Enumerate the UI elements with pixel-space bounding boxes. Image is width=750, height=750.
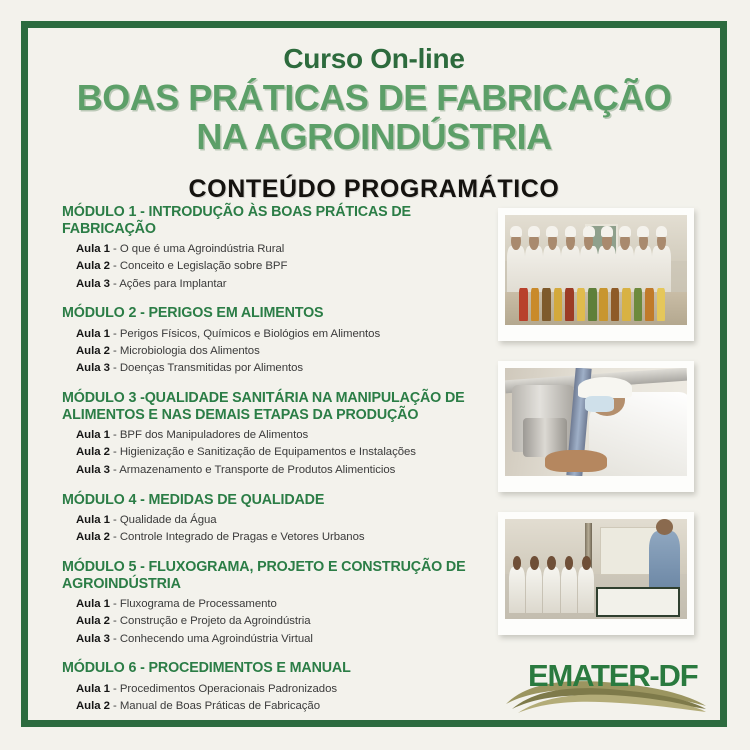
- photo-column: [498, 208, 708, 655]
- module-title: MÓDULO 6 - PROCEDIMENTOS E MANUAL: [62, 660, 492, 677]
- module-block: MÓDULO 2 - PERIGOS EM ALIMENTOS Aula 1 -…: [62, 305, 492, 377]
- lesson-label: Aula 1: [76, 328, 110, 340]
- photo-frame: [505, 519, 687, 619]
- page-title-line2: NA AGROINDÚSTRIA: [28, 118, 720, 157]
- lesson-item: Aula 1 - Perigos Físicos, Químicos e Bio…: [62, 325, 492, 342]
- lesson-text: - Perigos Físicos, Químicos e Biológios …: [113, 328, 380, 340]
- lesson-item: Aula 3 - Armazenamento e Transporte de P…: [62, 461, 492, 478]
- lesson-text: - O que é uma Agroindústria Rural: [113, 243, 284, 255]
- lesson-label: Aula 1: [76, 243, 110, 255]
- poster-inner: Curso On-line BOAS PRÁTICAS DE FABRICAÇÃ…: [28, 28, 720, 720]
- lesson-item: Aula 1 - O que é uma Agroindústria Rural: [62, 240, 492, 257]
- module-block: MÓDULO 4 - MEDIDAS DE QUALIDADE Aula 1 -…: [62, 492, 492, 546]
- lesson-label: Aula 2: [76, 531, 110, 543]
- module-block: MÓDULO 1 - INTRODUÇÃO ÀS BOAS PRÁTICAS D…: [62, 204, 492, 292]
- lesson-text: - Manual de Boas Práticas de Fabricação: [113, 700, 320, 712]
- photo-worker-mask: [585, 396, 614, 412]
- lesson-text: - Procedimentos Operacionais Padronizado…: [113, 683, 337, 695]
- lesson-item: Aula 2 - Construção e Projeto da Agroind…: [62, 613, 492, 630]
- lesson-item: Aula 1 - Qualidade da Água: [62, 511, 492, 528]
- poster-root: Curso On-line BOAS PRÁTICAS DE FABRICAÇÃ…: [0, 0, 750, 750]
- module-title: MÓDULO 2 - PERIGOS EM ALIMENTOS: [62, 305, 492, 322]
- lesson-text: - Controle Integrado de Pragas e Vetores…: [113, 531, 365, 543]
- lesson-text: - Doenças Transmitidas por Alimentos: [113, 362, 303, 374]
- photo-training-classroom: [498, 512, 694, 635]
- logo-wordmark: EMATER-DF: [528, 660, 697, 691]
- page-title: BOAS PRÁTICAS DE FABRICAÇÃO NA AGROINDÚS…: [28, 79, 720, 157]
- lesson-item: Aula 1 - Procedimentos Operacionais Padr…: [62, 680, 492, 697]
- lesson-text: - Higienização e Sanitização de Equipame…: [113, 446, 416, 458]
- photo-worker-processing-equipment: [498, 361, 694, 492]
- lesson-text: - Fluxograma de Processamento: [113, 598, 277, 610]
- lesson-label: Aula 3: [76, 278, 110, 290]
- lesson-label: Aula 2: [76, 260, 110, 272]
- lesson-text: - BPF dos Manipuladores de Alimentos: [113, 429, 308, 441]
- lesson-label: Aula 2: [76, 345, 110, 357]
- module-block: MÓDULO 6 - PROCEDIMENTOS E MANUAL Aula 1…: [62, 660, 492, 714]
- lesson-label: Aula 1: [76, 514, 110, 526]
- photo-jars-row: [516, 288, 680, 321]
- lesson-item: Aula 1 - Fluxograma de Processamento: [62, 595, 492, 612]
- poster-header: Curso On-line BOAS PRÁTICAS DE FABRICAÇÃ…: [28, 28, 720, 204]
- lesson-label: Aula 2: [76, 700, 110, 712]
- lesson-text: - Conceito e Legislação sobre BPF: [113, 260, 287, 272]
- lesson-item: Aula 2 - Controle Integrado de Pragas e …: [62, 529, 492, 546]
- module-title: MÓDULO 5 - FLUXOGRAMA, PROJETO E CONSTRU…: [62, 559, 492, 592]
- lesson-item: Aula 2 - Microbiologia dos Alimentos: [62, 342, 492, 359]
- lesson-label: Aula 3: [76, 633, 110, 645]
- lesson-label: Aula 3: [76, 362, 110, 374]
- module-title: MÓDULO 3 -QUALIDADE SANITÁRIA NA MANIPUL…: [62, 390, 492, 423]
- course-eyebrow: Curso On-line: [28, 44, 720, 73]
- lesson-text: - Microbiologia dos Alimentos: [113, 345, 260, 357]
- lesson-item: Aula 3 - Conhecendo uma Agroindústria Vi…: [62, 630, 492, 647]
- module-block: MÓDULO 5 - FLUXOGRAMA, PROJETO E CONSTRU…: [62, 559, 492, 647]
- syllabus-list: MÓDULO 1 - INTRODUÇÃO ÀS BOAS PRÁTICAS D…: [62, 204, 492, 720]
- lesson-item: Aula 1 - BPF dos Manipuladores de Alimen…: [62, 427, 492, 444]
- lesson-item: Aula 2 - Manual de Boas Práticas de Fabr…: [62, 697, 492, 714]
- photo-frame: [505, 368, 687, 476]
- photo-frame: [505, 215, 687, 325]
- lesson-text: - Ações para Implantar: [113, 278, 227, 290]
- lesson-text: - Armazenamento e Transporte de Produtos…: [113, 464, 395, 476]
- section-title: CONTEÚDO PROGRAMÁTICO: [28, 175, 720, 204]
- poster-body: MÓDULO 1 - INTRODUÇÃO ÀS BOAS PRÁTICAS D…: [28, 204, 720, 720]
- photo-worker-cap: [578, 377, 633, 399]
- lesson-text: - Construção e Projeto da Agroindústria: [113, 615, 311, 627]
- lesson-item: Aula 2 - Conceito e Legislação sobre BPF: [62, 258, 492, 275]
- lesson-item: Aula 3 - Ações para Implantar: [62, 275, 492, 292]
- lesson-item: Aula 2 - Higienização e Sanitização de E…: [62, 444, 492, 461]
- page-title-line1: BOAS PRÁTICAS DE FABRICAÇÃO: [77, 77, 672, 118]
- lesson-label: Aula 2: [76, 615, 110, 627]
- module-block: MÓDULO 3 -QUALIDADE SANITÁRIA NA MANIPUL…: [62, 390, 492, 478]
- module-title: MÓDULO 1 - INTRODUÇÃO ÀS BOAS PRÁTICAS D…: [62, 204, 492, 237]
- lesson-label: Aula 1: [76, 598, 110, 610]
- lesson-label: Aula 3: [76, 464, 110, 476]
- lesson-label: Aula 2: [76, 446, 110, 458]
- lesson-item: Aula 3 - Doenças Transmitidas por Alimen…: [62, 360, 492, 377]
- photo-worker-hands: [545, 450, 607, 472]
- lesson-label: Aula 1: [76, 429, 110, 441]
- lesson-text: - Qualidade da Água: [113, 514, 217, 526]
- lesson-label: Aula 1: [76, 683, 110, 695]
- photo-group-agroindustry-products: [498, 208, 694, 341]
- module-title: MÓDULO 4 - MEDIDAS DE QUALIDADE: [62, 492, 492, 509]
- photo-projection-screen: [596, 587, 680, 617]
- emater-df-logo: EMATER-DF: [498, 648, 713, 718]
- photo-instructor: [649, 531, 680, 593]
- lesson-text: - Conhecendo uma Agroindústria Virtual: [113, 633, 313, 645]
